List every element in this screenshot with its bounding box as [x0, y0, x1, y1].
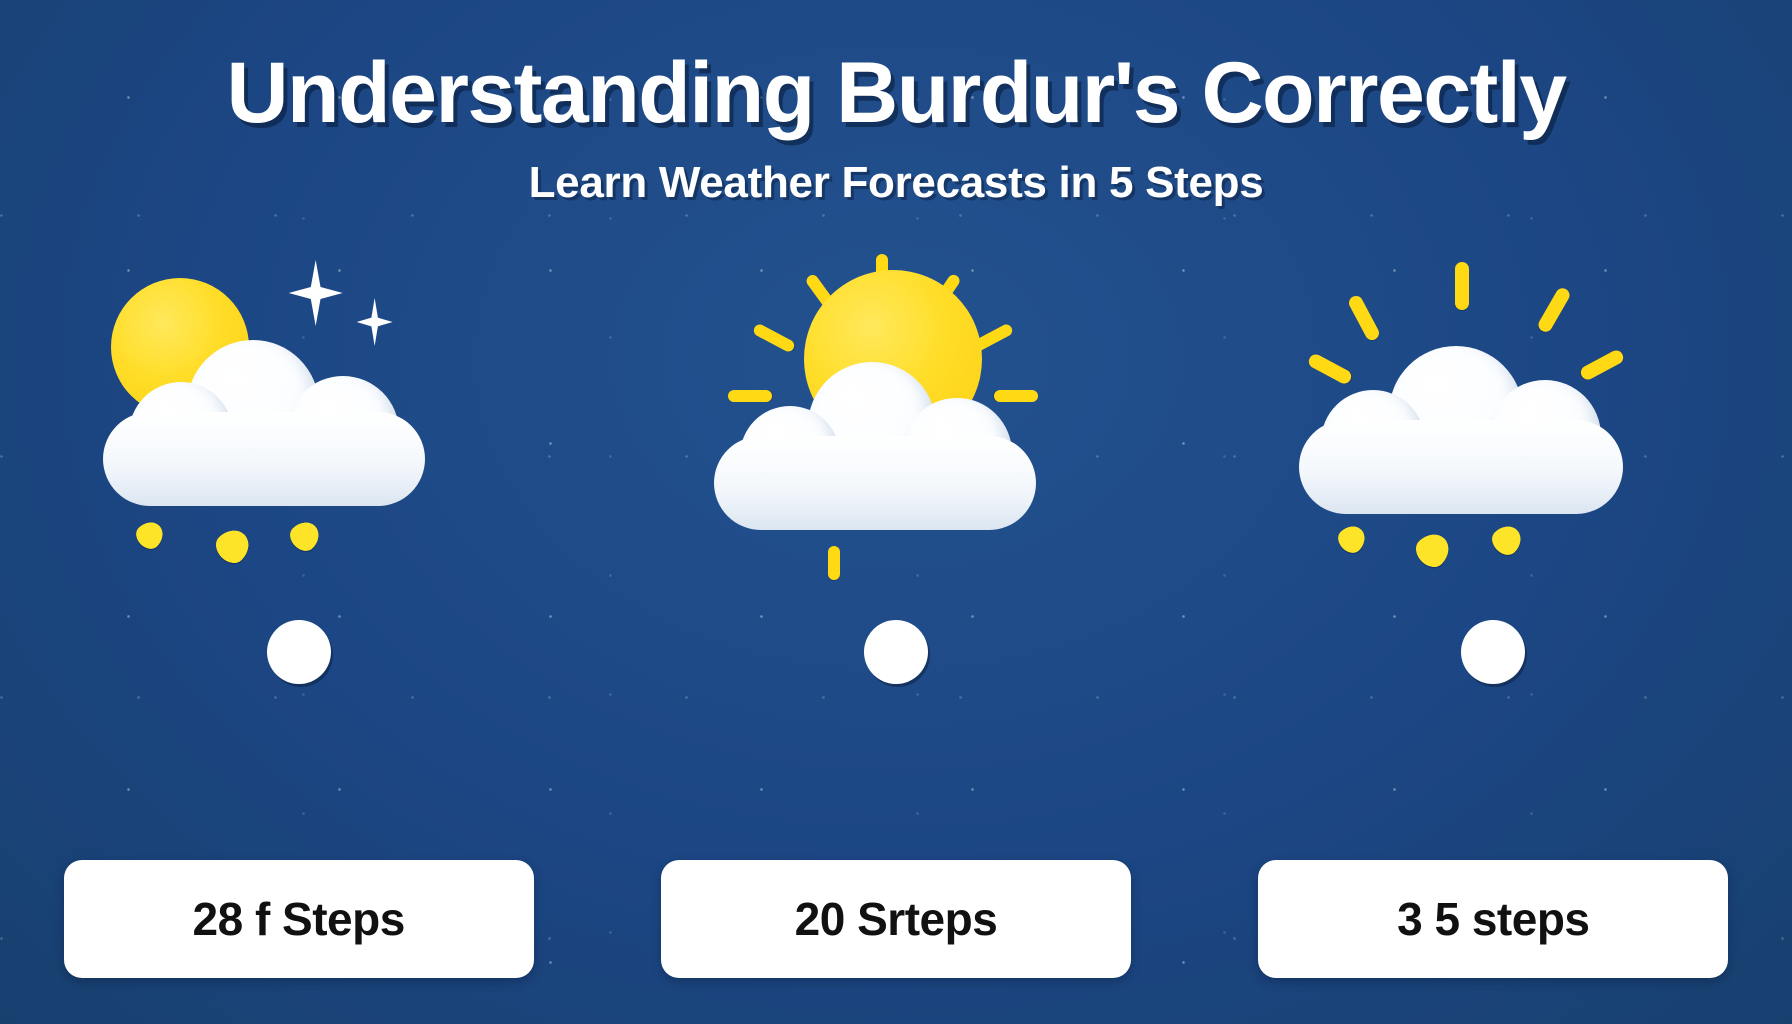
page-subtitle: Learn Weather Forecasts in 5 Steps: [0, 158, 1792, 208]
label-card-1[interactable]: 28 f Steps: [64, 860, 534, 978]
label-card-3-text: 3 5 steps: [1397, 892, 1589, 946]
raindrop-icon: [1334, 521, 1371, 558]
sun-ray: [1455, 262, 1469, 310]
sun-ray: [1347, 294, 1382, 343]
sparkle-icon: [357, 298, 393, 346]
cloud-icon: [1297, 346, 1627, 516]
sun-ray: [752, 322, 796, 353]
raindrop-icon: [210, 523, 255, 568]
sun-ray: [1536, 286, 1572, 335]
icon-columns: [0, 250, 1792, 870]
cloud-icon: [712, 362, 1042, 532]
raindrop-icon: [1411, 527, 1456, 572]
label-card-2-text: 20 Srteps: [795, 892, 998, 946]
raindrop-icon: [131, 517, 168, 554]
raindrop-icon: [1488, 520, 1528, 560]
cloud-base: [1299, 420, 1623, 514]
label-card-3[interactable]: 3 5 steps: [1258, 860, 1728, 978]
raindrop-icon: [285, 516, 325, 556]
weather-column-1: [19, 250, 579, 870]
label-card-1-text: 28 f Steps: [193, 892, 405, 946]
cloud-base: [714, 436, 1036, 530]
sparkle-icon: [289, 260, 343, 326]
step-dot: [864, 620, 928, 684]
label-card-row: 28 f Steps 20 Srteps 3 5 steps: [0, 854, 1792, 984]
cloud-with-rays-and-rain-icon: [1283, 250, 1703, 610]
weather-infographic-poster: Understanding Burdur's Correctly Learn W…: [0, 0, 1792, 1024]
page-title: Understanding Burdur's Correctly: [0, 44, 1792, 143]
step-dot: [267, 620, 331, 684]
sun-behind-cloud-with-rain-icon: [89, 250, 509, 610]
weather-column-3: [1213, 250, 1773, 870]
cloud-base: [103, 412, 425, 506]
label-card-2[interactable]: 20 Srteps: [661, 860, 1131, 978]
cloud-icon: [99, 340, 429, 510]
sun-ray: [828, 546, 840, 580]
weather-column-2: [616, 250, 1176, 870]
step-dot: [1461, 620, 1525, 684]
sun-with-rays-behind-cloud-icon: [686, 250, 1106, 610]
